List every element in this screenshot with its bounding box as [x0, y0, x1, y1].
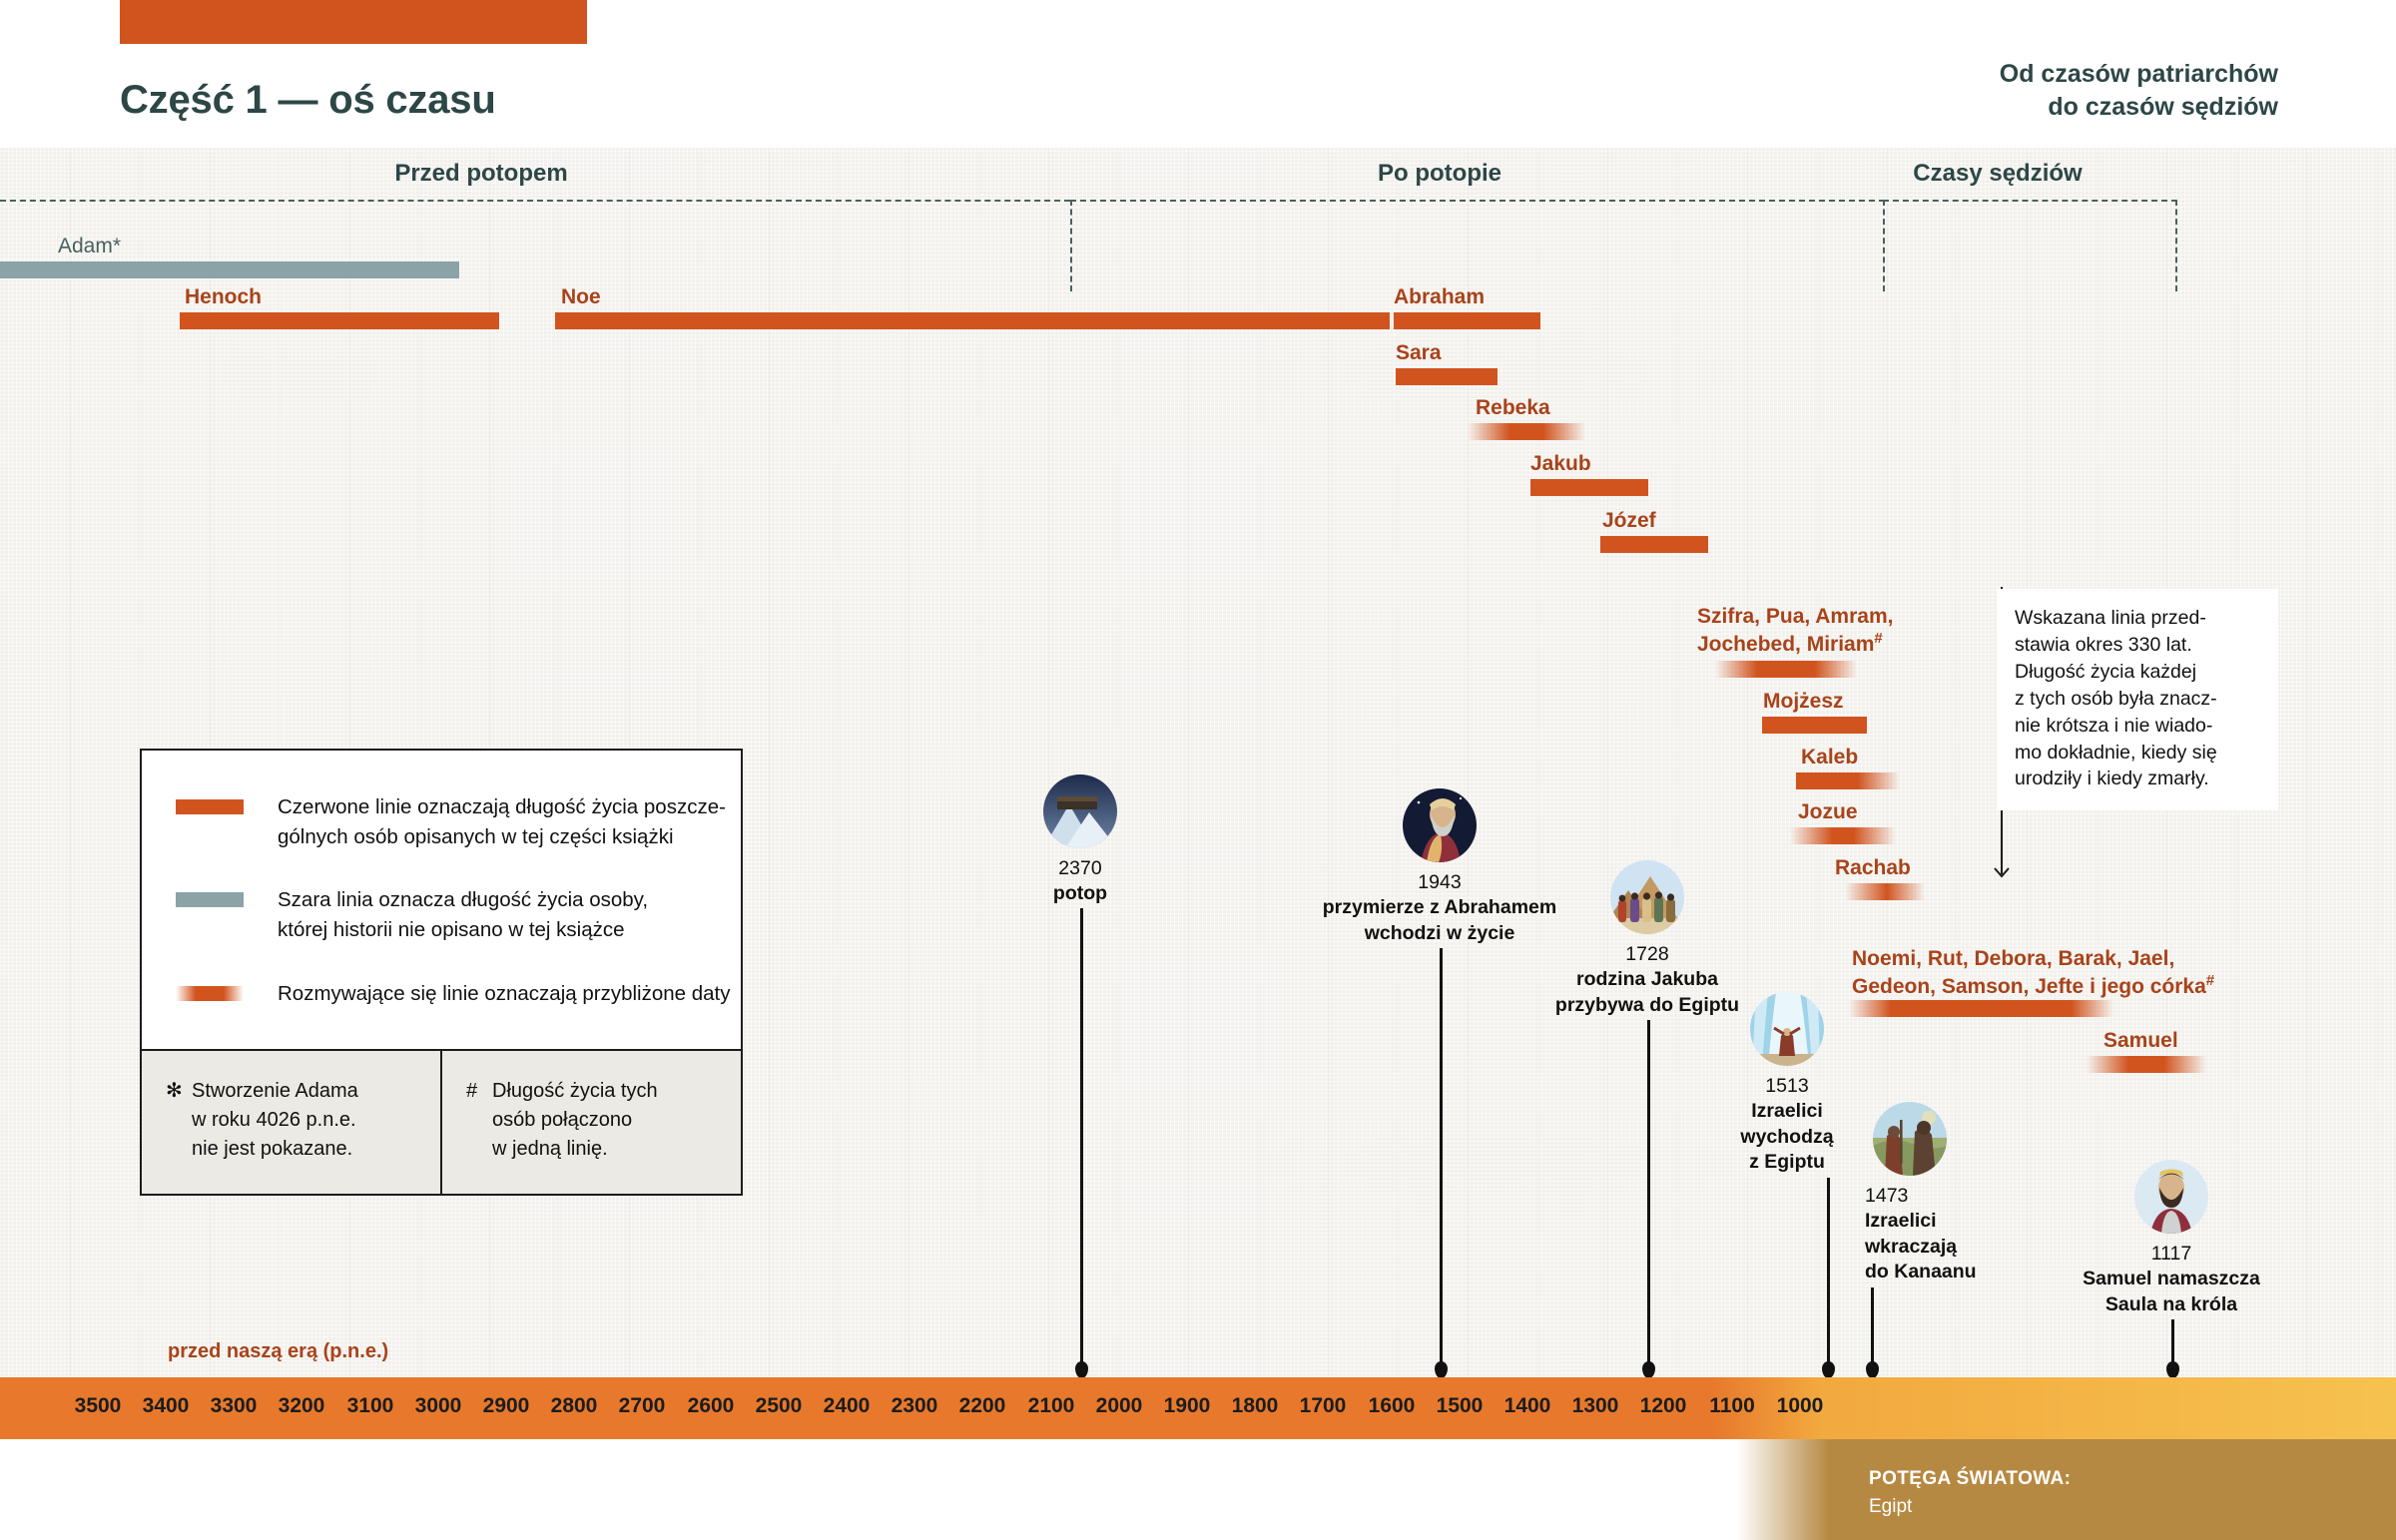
lifespan-label: Szifra, Pua, Amram,Jochebed, Miriam# [1697, 604, 1893, 657]
event-caption: 1728rodzina Jakubaprzybywa do Egiptu [1517, 942, 1777, 1018]
infographic-canvas: Część 1 — oś czasu Od czasów patriarchów… [0, 0, 2396, 1540]
section-frame-3 [1883, 200, 2177, 291]
event-title-line: Samuel namaszcza [2042, 1267, 2301, 1291]
lifespan-bar [1715, 661, 1857, 678]
event-title-line: Izraelici [1727, 1099, 1847, 1124]
section-frame-2 [1070, 200, 1885, 291]
axis-tick-label: 2200 [959, 1394, 1006, 1418]
event-year: 1943 [1280, 870, 1599, 895]
footnote-mark-icon: ✻ [166, 1077, 192, 1164]
lifespan-bar [180, 312, 499, 329]
event-year: 1513 [1727, 1074, 1847, 1099]
lifespan-label: Józef [1602, 508, 1656, 534]
legend-row: Szara linia oznacza długość życia osoby,… [142, 885, 741, 978]
axis-tick-label: 1000 [1777, 1394, 1824, 1418]
lifespan-label: Kaleb [1801, 745, 1858, 770]
lifespan-bar [1396, 368, 1497, 385]
samuel-saul-icon [2134, 1160, 2208, 1234]
legend-footnotes: ✻Stworzenie Adamaw roku 4026 p.n.e.nie j… [142, 1049, 741, 1194]
lifespan-bar [1845, 883, 1925, 900]
axis-tick-label: 1900 [1164, 1394, 1211, 1418]
event-year: 1117 [2042, 1242, 2301, 1267]
axis-tick-label: 2500 [756, 1394, 803, 1418]
event-title-line: Saula na króla [2042, 1292, 2301, 1317]
axis-tick-label: 1500 [1437, 1394, 1484, 1418]
axis-tick-label: 1200 [1640, 1394, 1687, 1418]
lifespan-label: Rebeka [1476, 395, 1550, 421]
legend-row-text: Szara linia oznacza długość życia osoby,… [278, 885, 648, 944]
event-title-line: do Kanaanu [1865, 1260, 2065, 1284]
legend-footnote: #Długość życia tychosób połączonow jedną… [440, 1051, 741, 1194]
event-caption: 2370potop [1042, 856, 1118, 907]
pyramids-family-icon [1610, 860, 1684, 934]
legend-swatch-icon [176, 799, 244, 814]
lifespan-bar [555, 312, 1390, 329]
axis-tick-label: 2900 [483, 1394, 530, 1418]
header-subtitle: Od czasów patriarchów do czasów sędziów [2000, 58, 2278, 124]
lifespan-bar [1394, 312, 1540, 329]
event-caption: 1513Izraeliciwychodząz Egiptu [1727, 1074, 1847, 1175]
axis-tick-label: 2300 [892, 1394, 938, 1418]
mountain-ark-icon [1043, 774, 1117, 848]
axis-tick-label: 1300 [1572, 1394, 1619, 1418]
legend-footnote: ✻Stworzenie Adamaw roku 4026 p.n.e.nie j… [142, 1051, 440, 1194]
lifespan-bar [1600, 536, 1708, 553]
event-title-line: wychodzą [1727, 1125, 1847, 1150]
world-power-text: POTĘGA ŚWIATOWA: Egipt [1869, 1465, 2071, 1520]
lifespan-label: Abraham [1394, 284, 1485, 310]
legend-swatch-icon [176, 986, 244, 1001]
event-year: 2370 [1042, 856, 1118, 881]
axis-tick-label: 2800 [551, 1394, 598, 1418]
legend-row-text: Czerwone linie oznaczają długość życia p… [278, 792, 726, 851]
event-year: 1473 [1865, 1184, 2065, 1209]
event-caption: 1117Samuel namaszczaSaula na króla [2042, 1242, 2301, 1317]
axis-tick-label: 1600 [1369, 1394, 1416, 1418]
section-label-2: Po potopie [1378, 160, 1501, 188]
event-year: 1728 [1517, 942, 1777, 967]
axis-era-note: przed naszą erą (p.n.e.) [168, 1340, 388, 1363]
footnote-text: Długość życia tychosób połączonow jedną … [492, 1077, 658, 1164]
lifespan-bar [1849, 1000, 2113, 1017]
section-label-1: Przed potopem [394, 160, 567, 188]
event-title-line: z Egiptu [1727, 1150, 1847, 1175]
axis-tick-label: 1700 [1300, 1394, 1347, 1418]
axis-tick-label: 1100 [1709, 1394, 1755, 1418]
callout-text: Wskazana linia przed-stawia okres 330 la… [2015, 607, 2217, 789]
event-title-line: przybywa do Egiptu [1517, 993, 1777, 1018]
lifespan-bar [1762, 717, 1867, 734]
event-title-line: rodzina Jakuba [1517, 967, 1777, 992]
lifespan-label: Adam* [58, 234, 121, 259]
axis-tick-label: 3400 [143, 1394, 190, 1418]
lifespan-bar [2087, 1056, 2206, 1073]
lifespan-bar [1796, 772, 1900, 789]
event-caption: 1473Izraeliciwkraczajądo Kanaanu [1865, 1184, 2065, 1284]
axis-tick-label: 2100 [1028, 1394, 1075, 1418]
event-title-line: przymierze z Abrahamem [1280, 895, 1599, 920]
legend-box: Czerwone linie oznaczają długość życia p… [140, 749, 743, 1196]
axis-tick-label: 2700 [619, 1394, 666, 1418]
lifespan-label: Sara [1396, 340, 1442, 366]
footnote-text: Stworzenie Adamaw roku 4026 p.n.e.nie je… [192, 1077, 358, 1164]
event-stem [1647, 1020, 1650, 1369]
event-stem [1827, 1178, 1830, 1369]
page-title: Część 1 — oś czasu [120, 78, 496, 123]
event-stem [1871, 1287, 1874, 1369]
lifespan-bar [0, 261, 459, 278]
event-stem [1440, 948, 1443, 1369]
header-accent-block [120, 0, 587, 44]
axis-tick-label: 2000 [1096, 1394, 1143, 1418]
section-label-3: Czasy sędziów [1913, 160, 2082, 188]
lifespan-label: Henoch [185, 284, 262, 310]
world-power-label: POTĘGA ŚWIATOWA: [1869, 1465, 2071, 1493]
axis-tick-label: 3200 [279, 1394, 325, 1418]
axis-tick-label: 3300 [211, 1394, 258, 1418]
lifespan-label: Mojżesz [1763, 689, 1844, 715]
lifespan-bar [1790, 827, 1896, 844]
canaan-scouts-icon [1873, 1102, 1947, 1176]
legend-row: Czerwone linie oznaczają długość życia p… [142, 792, 741, 885]
axis-tick-label: 2600 [688, 1394, 735, 1418]
event-title-line: wkraczają [1865, 1235, 2065, 1260]
legend-row: Rozmywające się linie oznaczają przybliż… [142, 979, 741, 1013]
lifespan-label: Jakub [1530, 451, 1591, 477]
legend-swatch-icon [176, 892, 244, 907]
event-stem [1080, 908, 1083, 1369]
abraham-portrait-icon [1403, 788, 1477, 862]
lifespan-bar [1530, 479, 1648, 496]
axis-tick-label: 3000 [415, 1394, 462, 1418]
legend-rows: Czerwone linie oznaczają długość życia p… [142, 751, 741, 1049]
lifespan-label: Noe [561, 284, 601, 310]
event-title-line: potop [1042, 881, 1118, 906]
legend-row-text: Rozmywające się linie oznaczają przybliż… [278, 979, 731, 1009]
event-caption: 1943przymierze z Abrahamemwchodzi w życi… [1280, 870, 1599, 946]
red-sea-icon [1750, 992, 1824, 1066]
lifespan-label: Noemi, Rut, Debora, Barak, Jael,Gedeon, … [1852, 946, 2214, 999]
axis-tick-label: 1800 [1232, 1394, 1279, 1418]
lifespan-bar [1468, 423, 1585, 440]
header-subtitle-line2: do czasów sędziów [2000, 91, 2278, 124]
axis-tick-label: 1400 [1504, 1394, 1551, 1418]
axis-tick-label: 3100 [347, 1394, 394, 1418]
axis-tick-label: 2400 [824, 1394, 871, 1418]
callout-note: Wskazana linia przed-stawia okres 330 la… [1997, 589, 2278, 810]
axis-tick-label: 3500 [75, 1394, 122, 1418]
callout-arrow-icon [1993, 860, 2011, 878]
lifespan-label: Jozue [1798, 799, 1858, 825]
world-power-value: Egipt [1869, 1493, 2071, 1521]
lifespan-label: Rachab [1835, 855, 1911, 881]
header-subtitle-line1: Od czasów patriarchów [2000, 58, 2278, 91]
event-title-line: Izraelici [1865, 1209, 2065, 1234]
lifespan-label: Samuel [2103, 1028, 2178, 1054]
footnote-mark-icon: # [466, 1077, 492, 1164]
